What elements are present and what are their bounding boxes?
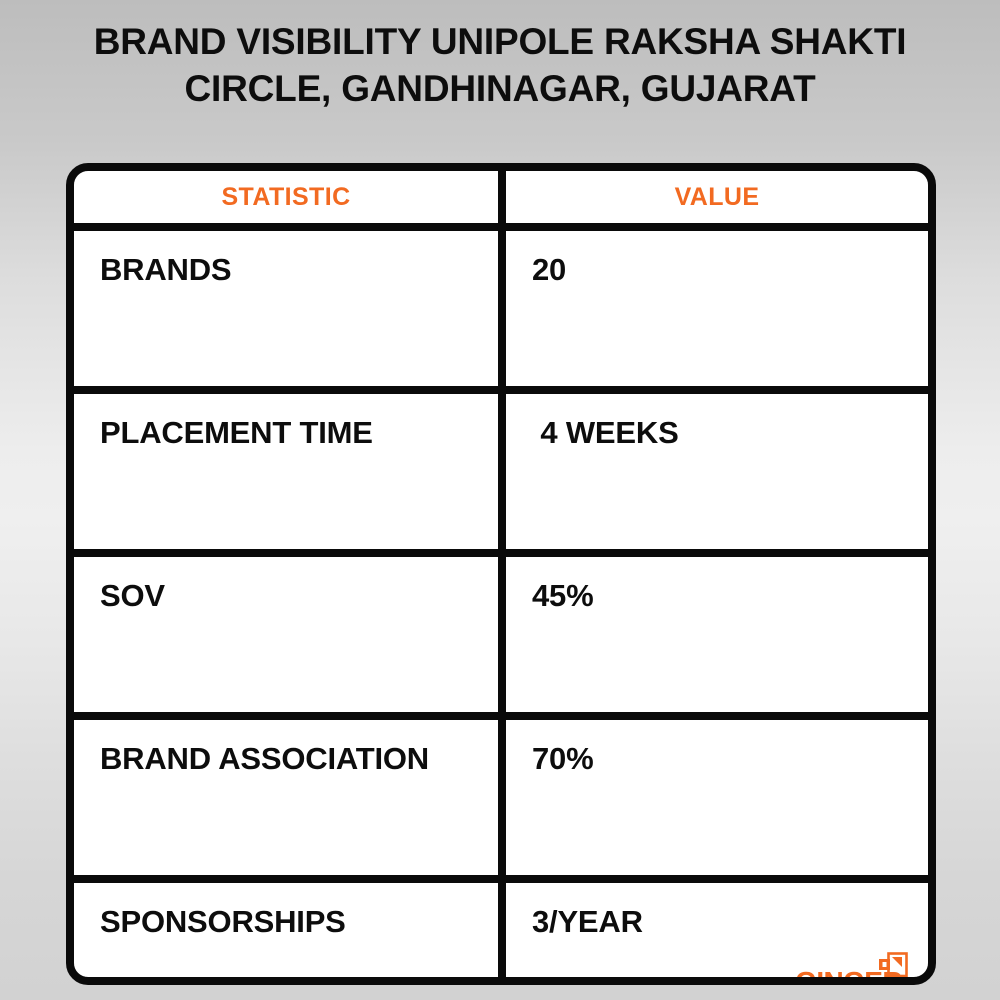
value-cell-sov: 45% (506, 557, 928, 720)
value-label-sponsorships: 3/YEAR (506, 883, 928, 939)
statistic-label-placement-time: PLACEMENT TIME (74, 394, 498, 450)
value-cell-sponsorships-inner: 3/YEAR GINGE (506, 883, 928, 985)
value-label-sov: 45% (506, 557, 928, 613)
table-row: SOV 45% (74, 557, 928, 720)
value-label-placement-time: 4 WEEKS (506, 394, 928, 450)
statistic-cell-brand-association: BRAND ASSOCIATION (74, 720, 506, 883)
statistic-cell-placement-time: PLACEMENT TIME (74, 394, 506, 557)
column-header-value-label: VALUE (506, 171, 928, 223)
column-header-value: VALUE (506, 171, 928, 231)
statistics-table: STATISTIC VALUE BRANDS 20 (74, 171, 928, 985)
column-header-statistic: STATISTIC (74, 171, 506, 231)
value-cell-sponsorships: 3/YEAR GINGE (506, 883, 928, 985)
table-row: BRANDS 20 (74, 231, 928, 394)
poster-canvas: BRAND VISIBILITY UNIPOLE RAKSHA SHAKTI C… (0, 0, 1000, 1000)
page-title: BRAND VISIBILITY UNIPOLE RAKSHA SHAKTI C… (50, 18, 950, 113)
value-cell-brand-association: 70% (506, 720, 928, 883)
ginger-wordmark: GINGER (778, 968, 910, 985)
value-cell-brands: 20 (506, 231, 928, 394)
statistic-label-brand-association: BRAND ASSOCIATION (74, 720, 498, 776)
statistic-label-sponsorships: SPONSORSHIPS (74, 883, 498, 939)
statistic-cell-sponsorships: SPONSORSHIPS (74, 883, 506, 985)
value-label-brands: 20 (506, 231, 928, 287)
column-header-statistic-label: STATISTIC (74, 171, 498, 223)
statistics-table-container: STATISTIC VALUE BRANDS 20 (66, 163, 936, 985)
ginger-media-group-logo: GINGER MEDIA GROUP (778, 951, 910, 985)
table-row: PLACEMENT TIME 4 WEEKS (74, 394, 928, 557)
value-cell-placement-time: 4 WEEKS (506, 394, 928, 557)
table-row: SPONSORSHIPS 3/YEAR (74, 883, 928, 985)
table-header-row: STATISTIC VALUE (74, 171, 928, 231)
value-label-brand-association: 70% (506, 720, 928, 776)
statistic-label-sov: SOV (74, 557, 498, 613)
statistic-cell-sov: SOV (74, 557, 506, 720)
table-row: BRAND ASSOCIATION 70% (74, 720, 928, 883)
statistic-cell-brands: BRANDS (74, 231, 506, 394)
statistic-label-brands: BRANDS (74, 231, 498, 287)
